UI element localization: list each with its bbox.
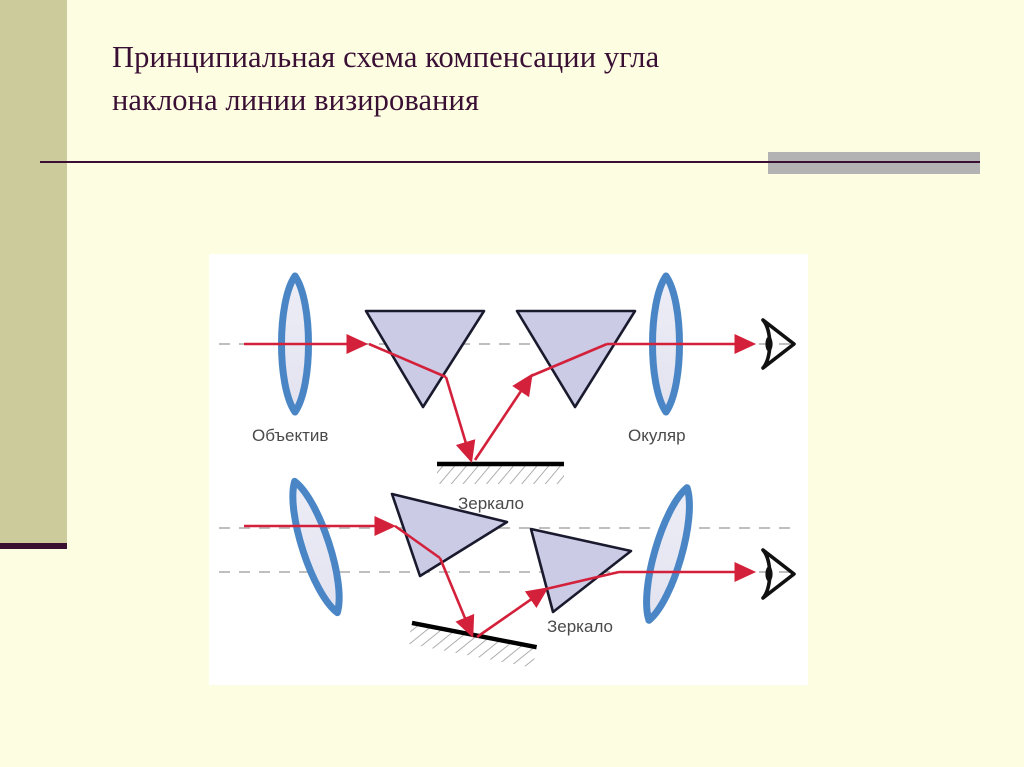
prism-one — [366, 311, 484, 407]
title-rule — [40, 161, 980, 163]
mirror-upper — [437, 462, 564, 484]
eyepiece-lens-tilted — [636, 484, 700, 624]
label-mirror-upper: Зеркало — [458, 494, 524, 513]
objective-lens-tilted — [282, 477, 350, 617]
mirror-lower — [408, 622, 537, 668]
eye-icon-lower — [763, 550, 794, 598]
label-eyepiece-upper: Окуляр — [628, 426, 686, 445]
label-objective-upper: Объектив — [252, 426, 328, 445]
prism-two-tilted — [531, 529, 631, 612]
left-accent-band — [0, 0, 67, 543]
left-accent-bar — [0, 543, 67, 549]
page-title: Принципиальная схема компенсации угла на… — [112, 36, 872, 123]
prism-two — [517, 311, 635, 407]
label-mirror-lower: Зеркало — [547, 617, 613, 636]
optical-scheme-figure: Объектив Зеркало Окуляр — [209, 254, 808, 685]
figure-panel: Объектив Зеркало Окуляр — [209, 254, 808, 685]
title-rule-gray-accent — [768, 152, 980, 174]
slide-canvas: Принципиальная схема компенсации угла на… — [0, 0, 1024, 767]
upper-diagram: Объектив Зеркало Окуляр — [219, 276, 798, 513]
